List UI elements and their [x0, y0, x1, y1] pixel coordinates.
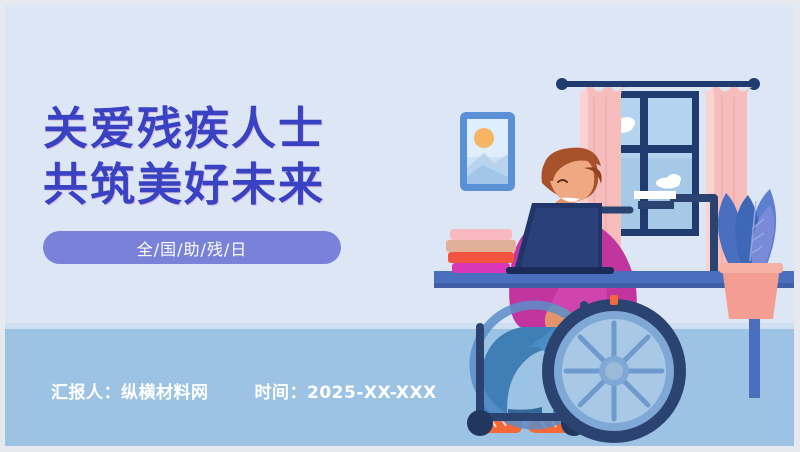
slide-canvas: 关爱残疾人士 共筑美好未来 全/国/助/残/日 汇报人：纵横材料网 时间：202…: [5, 5, 794, 446]
headline-block: 关爱残疾人士 共筑美好未来 全/国/助/残/日: [43, 101, 383, 264]
presenter-label: 汇报人：纵横材料网: [51, 378, 209, 403]
book-stack: [446, 229, 516, 273]
date-label: 时间：2025-XX-XXX: [255, 378, 437, 403]
footer-meta: 汇报人：纵横材料网 时间：2025-XX-XXX: [51, 378, 437, 403]
illustration-scene: [434, 5, 794, 446]
theme-pill-badge[interactable]: 全/国/助/残/日: [43, 231, 341, 264]
title-line-1: 关爱残疾人士: [43, 101, 383, 157]
title-line-2: 共筑美好未来: [43, 157, 383, 213]
presentation-slide: 关爱残疾人士 共筑美好未来 全/国/助/残/日 汇报人：纵横材料网 时间：202…: [0, 0, 800, 452]
potted-plant: [718, 189, 783, 319]
framed-picture-icon: [460, 112, 515, 191]
